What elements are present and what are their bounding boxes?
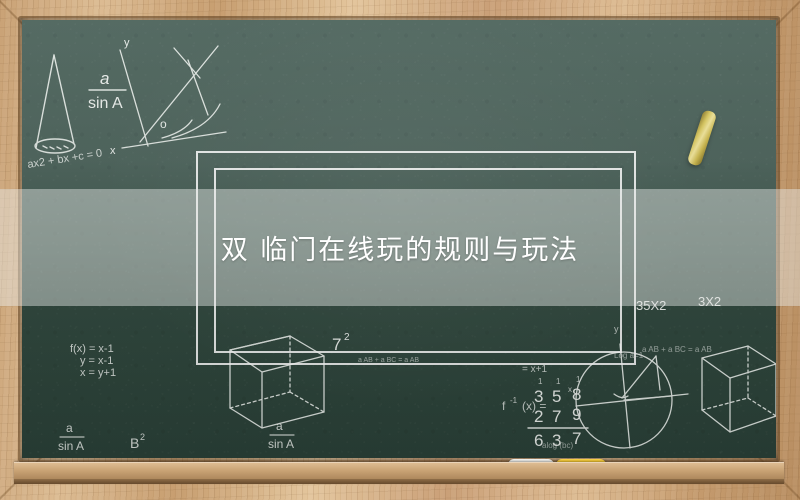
chalk-axis-label-x: x xyxy=(110,145,116,157)
chalk-digit-r2c2: 7 xyxy=(572,429,581,448)
chalk-fraction-denominator-sina: sin A xyxy=(88,95,123,112)
chalk-carry-1: 1 xyxy=(556,377,561,386)
chalk-cube-right xyxy=(702,346,776,432)
chalk-fraction-a-bl: a xyxy=(66,421,73,435)
chalk-digit-r1c1: 7 xyxy=(552,407,561,426)
chalk-digit-r0c1: 5 xyxy=(552,387,561,406)
chalk-cone-drawing xyxy=(35,55,75,153)
chalk-b-base: B xyxy=(130,435,139,451)
chalk-ledge xyxy=(14,462,784,484)
chalk-fx-line-1: f(x) = x-1 xyxy=(70,343,114,355)
chalk-digit-r2c1: 3 xyxy=(552,431,561,450)
chalk-digit-r0c2: 8 xyxy=(572,385,581,404)
chalk-inverse-fn-exp: -1 xyxy=(510,396,518,405)
chalk-angle-label: o xyxy=(160,117,167,131)
chalk-fraction-sina-cube: sin A xyxy=(268,437,294,451)
chalk-fraction-a-cube: a xyxy=(276,419,283,433)
page-title: 双 临门在线玩的规则与玩法 xyxy=(221,228,580,267)
chalk-eq-note: = x+1 xyxy=(522,364,547,375)
chalk-digit-r1c2: 9 xyxy=(572,405,581,424)
chalk-axes-angle-diagram xyxy=(120,46,226,148)
chalk-matrix-row: a AB + a BC = a AB xyxy=(642,345,712,354)
chalk-inverse-fn-base: f xyxy=(502,399,506,413)
chalk-fraction-numerator-a: a xyxy=(100,69,109,88)
chalk-b-exponent: 2 xyxy=(140,432,145,442)
chalk-digit-r1c0: 2 xyxy=(534,407,543,426)
chalk-subtraction-columns: 3 5 8 2 7 9 6 3 7 1 1 1 xyxy=(528,375,588,450)
chalk-carry-2: 1 xyxy=(576,375,581,384)
chalk-fx-line-2: y = x-1 xyxy=(80,355,113,367)
chalk-carry-0: 1 xyxy=(538,377,543,386)
chalk-digit-r2c0: 6 xyxy=(534,431,543,450)
chalk-axis-label-y: y xyxy=(124,37,130,49)
title-overlay-band: 双 临门在线玩的规则与玩法 xyxy=(0,189,800,306)
chalk-quadratic-equation: ax2 + bx +c = 0 xyxy=(27,147,103,171)
chalk-fx-line-3: x = y+1 xyxy=(80,367,116,379)
chalk-digit-r0c0: 3 xyxy=(534,387,543,406)
chalkboard-banner: a sin A y x o ax2 + bx +c = 0 xyxy=(0,0,800,500)
chalk-fraction-sina-bl: sin A xyxy=(58,439,84,453)
